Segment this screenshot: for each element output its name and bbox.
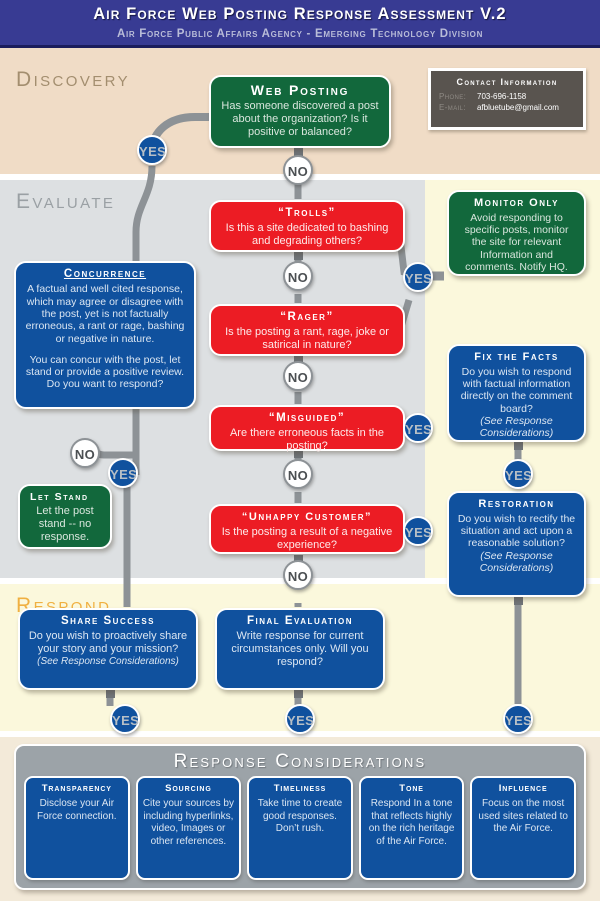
node-rager-title: “Rager” bbox=[218, 311, 396, 324]
node-trolls-body: Is this a site dedicated to bashing and … bbox=[218, 222, 396, 248]
node-restoration-title: Restoration bbox=[456, 498, 577, 511]
response-considerations-title: Response Considerations bbox=[16, 746, 584, 776]
rc-card-timeliness[interactable]: Timeliness Take time to create good resp… bbox=[247, 776, 353, 880]
rc-card-tone[interactable]: Tone Respond In a tone that reflects hig… bbox=[359, 776, 465, 880]
node-fix-the-facts-title: Fix the Facts bbox=[456, 351, 577, 364]
contact-table: Phone: 703-696-1158 E-mail: afbluetube@g… bbox=[439, 92, 559, 114]
rc-card-sourcing-body: Cite your sources by including hyperlink… bbox=[142, 798, 236, 848]
node-web-posting[interactable]: Web Posting Has someone discovered a pos… bbox=[209, 75, 391, 148]
node-concurrence-body: A factual and well cited response, which… bbox=[23, 283, 187, 344]
badge-yes-unhappy-customer[interactable]: YES bbox=[403, 516, 433, 546]
node-trolls-title: “Trolls” bbox=[218, 207, 396, 220]
node-let-stand-body: Let the post stand -- no response. bbox=[27, 505, 103, 544]
node-misguided[interactable]: “Misguided” Are there erroneous facts in… bbox=[209, 405, 405, 451]
node-concurrence[interactable]: Concurrence A factual and well cited res… bbox=[14, 261, 196, 409]
badge-yes-restoration[interactable]: YES bbox=[503, 704, 533, 734]
badge-yes-trolls[interactable]: YES bbox=[403, 262, 433, 292]
node-trolls[interactable]: “Trolls” Is this a site dedicated to bas… bbox=[209, 200, 405, 252]
node-final-evaluation-body: Write response for current circumstances… bbox=[224, 630, 376, 669]
node-final-evaluation[interactable]: Final Evaluation Write response for curr… bbox=[215, 608, 385, 690]
page-subtitle: Air Force Public Affairs Agency - Emergi… bbox=[0, 28, 600, 40]
node-restoration-note: (See Response Considerations) bbox=[456, 550, 577, 575]
node-share-success-title: Share Success bbox=[27, 615, 189, 628]
contact-row-phone: Phone: 703-696-1158 bbox=[439, 92, 559, 103]
rc-card-sourcing[interactable]: Sourcing Cite your sources by including … bbox=[136, 776, 242, 880]
rc-card-timeliness-title: Timeliness bbox=[253, 783, 347, 794]
rc-card-tone-title: Tone bbox=[365, 783, 459, 794]
rc-card-transparency-title: Transparency bbox=[30, 783, 124, 794]
section-label-discovery: Discovery bbox=[16, 68, 130, 92]
node-fix-the-facts[interactable]: Fix the Facts Do you wish to respond wit… bbox=[447, 344, 586, 442]
rc-card-timeliness-body: Take time to create good responses. Don’… bbox=[253, 798, 347, 836]
section-label-evaluate: Evaluate bbox=[16, 190, 115, 214]
node-let-stand-title: Let Stand bbox=[27, 491, 103, 503]
node-web-posting-title: Web Posting bbox=[218, 82, 382, 98]
contact-phone-value: 703-696-1158 bbox=[477, 92, 559, 103]
page-header: Air Force Web Posting Response Assessmen… bbox=[0, 0, 600, 48]
contact-phone-label: Phone: bbox=[439, 92, 477, 103]
contact-email-value[interactable]: afbluetube@gmail.com bbox=[477, 103, 559, 114]
node-concurrence-title: Concurrence bbox=[23, 268, 187, 281]
rc-card-transparency-body: Disclose your Air Force connection. bbox=[30, 798, 124, 823]
rc-card-influence-title: Influence bbox=[476, 783, 570, 794]
badge-yes-concurrence[interactable]: YES bbox=[108, 458, 138, 488]
node-unhappy-customer-title: “Unhappy Customer” bbox=[218, 511, 396, 524]
node-fix-the-facts-body: Do you wish to respond with factual info… bbox=[456, 366, 577, 415]
badge-no-trolls[interactable]: NO bbox=[283, 261, 313, 291]
contact-information-box: Contact Information Phone: 703-696-1158 … bbox=[428, 68, 586, 130]
node-unhappy-customer[interactable]: “Unhappy Customer” Is the posting a resu… bbox=[209, 504, 405, 554]
rc-card-transparency[interactable]: Transparency Disclose your Air Force con… bbox=[24, 776, 130, 880]
contact-email-label: E-mail: bbox=[439, 103, 477, 114]
response-considerations-panel: Response Considerations Transparency Dis… bbox=[14, 744, 586, 890]
node-misguided-title: “Misguided” bbox=[218, 412, 396, 425]
node-monitor-only[interactable]: Monitor Only Avoid responding to specifi… bbox=[447, 190, 586, 276]
badge-no-unhappy-customer[interactable]: NO bbox=[283, 560, 313, 590]
rc-card-influence-body: Focus on the most used sites related to … bbox=[476, 798, 570, 836]
badge-no-concurrence[interactable]: NO bbox=[70, 438, 100, 468]
badge-no-rager[interactable]: NO bbox=[283, 361, 313, 391]
node-restoration-body: Do you wish to rectify the situation and… bbox=[456, 513, 577, 550]
node-monitor-only-body: Avoid responding to specific posts, moni… bbox=[456, 212, 577, 273]
badge-yes-misguided[interactable]: YES bbox=[403, 413, 433, 443]
node-share-success[interactable]: Share Success Do you wish to proactively… bbox=[18, 608, 198, 690]
rc-card-influence[interactable]: Influence Focus on the most used sites r… bbox=[470, 776, 576, 880]
node-unhappy-customer-body: Is the posting a result of a negative ex… bbox=[218, 526, 396, 552]
rc-card-tone-body: Respond In a tone that reflects highly o… bbox=[365, 798, 459, 848]
node-final-evaluation-title: Final Evaluation bbox=[224, 615, 376, 628]
contact-row-email: E-mail: afbluetube@gmail.com bbox=[439, 103, 559, 114]
node-share-success-body: Do you wish to proactively share your st… bbox=[27, 630, 189, 656]
node-rager-body: Is the posting a rant, rage, joke or sat… bbox=[218, 326, 396, 352]
badge-yes-share-success[interactable]: YES bbox=[110, 704, 140, 734]
badge-yes-web-posting[interactable]: YES bbox=[137, 135, 167, 165]
badge-yes-final-evaluation[interactable]: YES bbox=[285, 704, 315, 734]
response-considerations-cards: Transparency Disclose your Air Force con… bbox=[16, 776, 584, 880]
page-title: Air Force Web Posting Response Assessmen… bbox=[0, 5, 600, 24]
badge-yes-fix-the-facts[interactable]: YES bbox=[503, 459, 533, 489]
contact-title: Contact Information bbox=[439, 77, 575, 87]
node-monitor-only-title: Monitor Only bbox=[456, 197, 577, 210]
node-share-success-note: (See Response Considerations) bbox=[27, 656, 189, 668]
badge-no-web-posting[interactable]: NO bbox=[283, 155, 313, 185]
rc-card-sourcing-title: Sourcing bbox=[142, 783, 236, 794]
node-rager[interactable]: “Rager” Is the posting a rant, rage, jok… bbox=[209, 304, 405, 356]
node-misguided-body: Are there erroneous facts in the posting… bbox=[218, 427, 396, 453]
node-let-stand[interactable]: Let Stand Let the post stand -- no respo… bbox=[18, 484, 112, 549]
node-concurrence-body-2: You can concur with the post, let stand … bbox=[23, 354, 187, 391]
badge-no-misguided[interactable]: NO bbox=[283, 459, 313, 489]
node-web-posting-body: Has someone discovered a post about the … bbox=[218, 100, 382, 139]
node-restoration[interactable]: Restoration Do you wish to rectify the s… bbox=[447, 491, 586, 597]
node-fix-the-facts-note: (See Response Considerations) bbox=[456, 415, 577, 440]
